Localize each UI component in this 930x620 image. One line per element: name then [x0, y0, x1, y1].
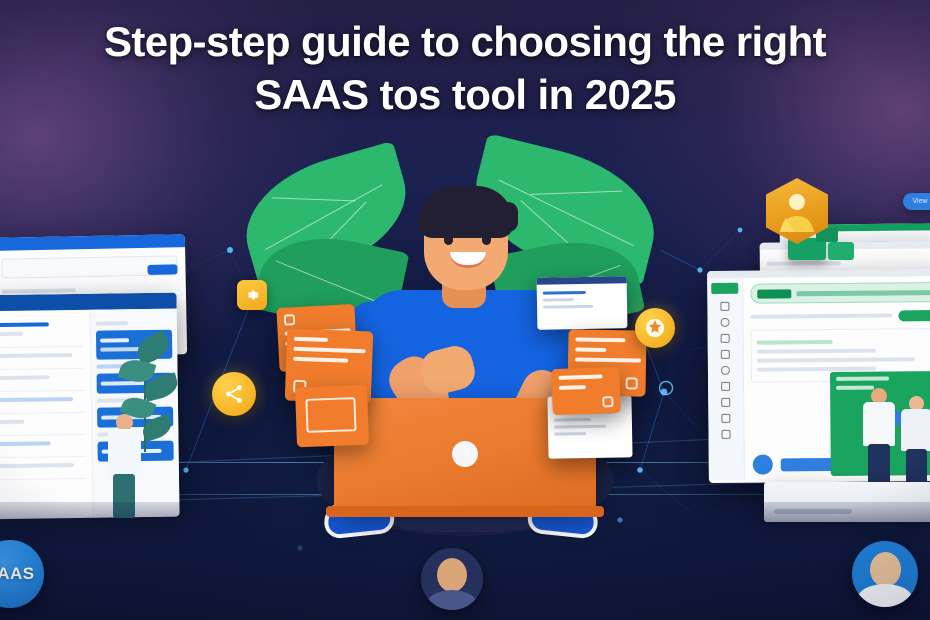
top-right-pill-button[interactable]: View [903, 193, 930, 210]
left-dashboard-group[interactable] [0, 236, 200, 526]
gear-icon [244, 287, 260, 303]
person-right-a [860, 388, 898, 484]
card-icon [602, 396, 613, 407]
laptop-base [326, 506, 604, 517]
clipboard-icon[interactable] [721, 414, 730, 423]
hair [418, 186, 514, 238]
eyebrow-right [479, 226, 495, 230]
share-network-icon [223, 383, 245, 405]
title-line-1: Step-step guide to choosing the right [6, 16, 924, 69]
box-icon[interactable] [721, 430, 730, 439]
calendar-icon[interactable] [721, 382, 730, 391]
avatar-center[interactable] [421, 548, 483, 610]
white-browser-window-top[interactable] [537, 276, 628, 330]
text-line [757, 340, 833, 345]
coin-badge[interactable] [635, 308, 675, 348]
chat-fab-icon[interactable] [753, 454, 773, 474]
search-tag [757, 289, 791, 298]
saas-badge-label: SAAS [0, 564, 35, 584]
settings-badge[interactable] [237, 280, 267, 310]
panel-heading [96, 321, 128, 325]
table-row[interactable] [0, 397, 73, 402]
text-line [757, 349, 876, 354]
table-row[interactable] [0, 463, 74, 468]
tag-icon[interactable] [721, 366, 730, 375]
text-line [757, 357, 915, 362]
user-icon[interactable] [720, 318, 729, 327]
laptop-logo-icon [452, 441, 478, 467]
orange-card-right-bottom[interactable] [551, 367, 621, 415]
share-badge[interactable] [212, 372, 256, 416]
sidebar-logo [711, 283, 738, 294]
filter-button[interactable] [898, 310, 930, 321]
person-right-b [898, 396, 930, 488]
title-line-2: SAAS tos tool in 2025 [6, 69, 924, 122]
sidebar-nav[interactable] [707, 278, 745, 480]
folder-icon[interactable] [721, 334, 730, 343]
document-icon [626, 377, 638, 389]
eyebrow-left [441, 226, 457, 230]
primary-action-button[interactable] [147, 264, 177, 275]
star-burst-icon [643, 316, 667, 340]
chart-icon[interactable] [721, 350, 730, 359]
mini-green-card-b[interactable] [828, 242, 854, 260]
orange-card-bottom[interactable] [295, 385, 369, 447]
home-icon[interactable] [720, 302, 729, 311]
table-row[interactable] [0, 420, 24, 425]
records-table[interactable] [0, 310, 94, 520]
table-row[interactable] [0, 441, 50, 446]
text-line [0, 332, 23, 337]
pill-button-label: View [912, 198, 927, 205]
table-row[interactable] [0, 353, 72, 358]
search-placeholder [796, 290, 930, 296]
table-row[interactable] [0, 375, 49, 380]
id-card-icon [305, 397, 356, 433]
hero-title: Step-step guide to choosing the right SA… [0, 16, 930, 122]
avatar-bottom-right[interactable] [852, 541, 918, 607]
text-line [750, 313, 892, 318]
eye-left [444, 234, 453, 245]
table-heading [0, 322, 48, 327]
hero-banner-canvas: Step-step guide to choosing the right SA… [0, 0, 930, 620]
text-line [2, 288, 76, 293]
potted-plant-left [114, 332, 184, 462]
window-title-bar [537, 276, 627, 285]
search-field[interactable] [750, 282, 930, 304]
list-icon [284, 314, 296, 326]
eye-right [482, 234, 491, 245]
list-icon[interactable] [721, 398, 730, 407]
text-line [767, 261, 841, 266]
